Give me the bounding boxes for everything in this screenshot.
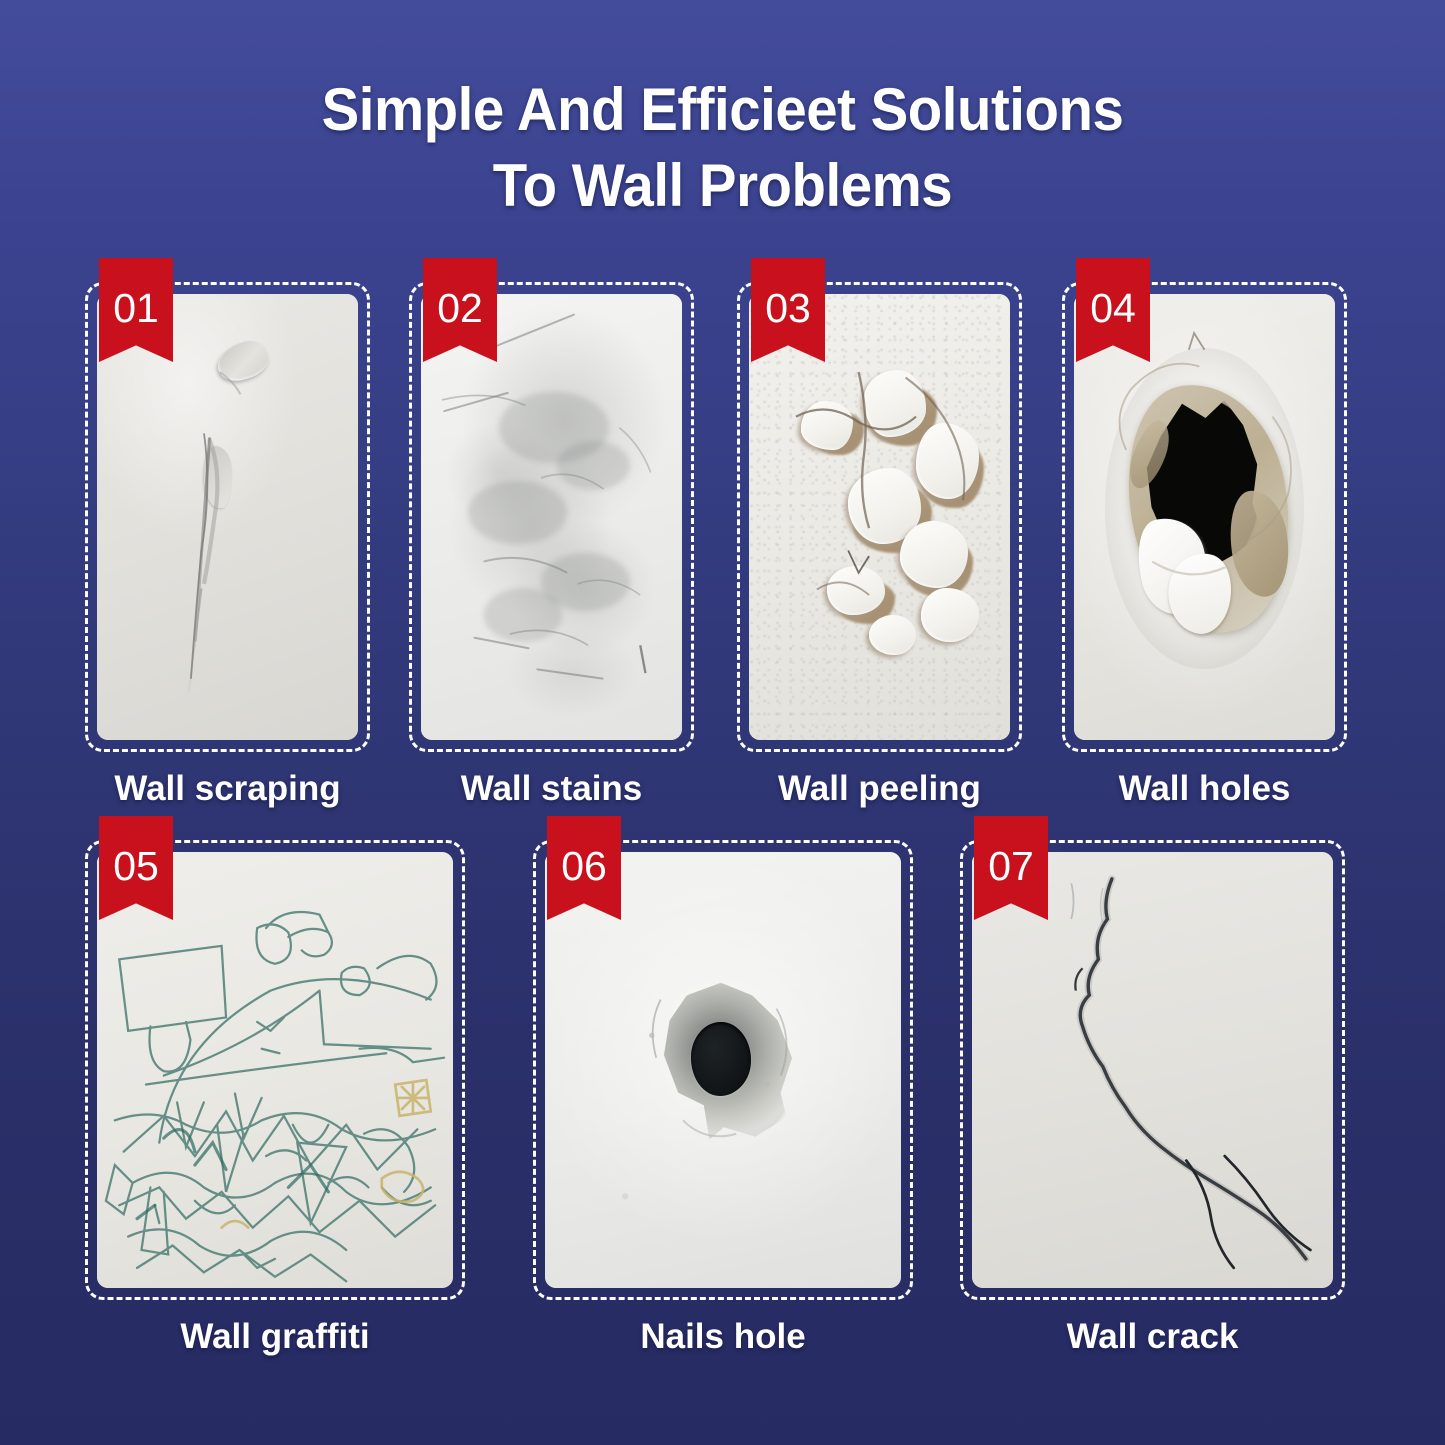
card-photo-wall-peeling (749, 294, 1010, 740)
badge-fold (173, 258, 185, 282)
card-photo-wall-scraping (97, 294, 358, 740)
badge-fold (825, 258, 837, 282)
badge-fold (497, 258, 509, 282)
problem-card-02[interactable]: 02 (409, 282, 694, 752)
badge-number: 01 (113, 288, 159, 329)
card-frame (85, 282, 370, 752)
badge-number: 03 (765, 288, 811, 329)
badge-number: 04 (1090, 288, 1136, 329)
card-caption-02: Wall stains (409, 768, 694, 810)
problem-card-03[interactable]: 03 (737, 282, 1022, 752)
card-photo-wall-stains (421, 294, 682, 740)
card-row-2: 05 Wall graffiti (0, 832, 1445, 1392)
card-photo-wall-graffiti (97, 852, 453, 1288)
card-photo-wall-crack (972, 852, 1333, 1288)
title-line-2: To Wall Problems (43, 148, 1401, 224)
badge-number: 02 (437, 288, 483, 329)
card-row-1: 01 Wall scraping (0, 262, 1445, 832)
problem-card-05[interactable]: 05 (85, 840, 465, 1300)
crack-lines (972, 852, 1333, 1288)
badge-fold (1150, 258, 1162, 282)
nail-hole-detail (545, 852, 901, 1288)
badge-number: 07 (988, 846, 1034, 887)
problem-card-grid: 01 Wall scraping (0, 262, 1445, 1392)
problem-card-01[interactable]: 01 (85, 282, 370, 752)
card-frame (737, 282, 1022, 752)
problem-card-04[interactable]: 04 (1062, 282, 1347, 752)
scrape-detail-lines (97, 294, 358, 740)
problem-card-06[interactable]: 06 (533, 840, 913, 1300)
card-photo-nails-hole (545, 852, 901, 1288)
page-title: Simple And Efficieet Solutions To Wall P… (0, 72, 1445, 224)
badge-number: 06 (561, 846, 607, 887)
crayon-scribbles (97, 852, 453, 1288)
card-caption-01: Wall scraping (85, 768, 370, 810)
card-frame (960, 840, 1345, 1300)
card-caption-05: Wall graffiti (85, 1316, 465, 1358)
card-caption-07: Wall crack (960, 1316, 1345, 1358)
hole-edge-lines (1074, 294, 1335, 740)
peel-crack-lines (749, 294, 1010, 740)
card-photo-wall-holes (1074, 294, 1335, 740)
card-caption-03: Wall peeling (737, 768, 1022, 810)
stain-detail-lines (421, 294, 682, 740)
badge-number: 05 (113, 846, 159, 887)
card-frame (533, 840, 913, 1300)
card-frame (409, 282, 694, 752)
title-line-1: Simple And Efficieet Solutions (43, 72, 1401, 148)
card-frame (1062, 282, 1347, 752)
problem-card-07[interactable]: 07 (960, 840, 1345, 1300)
card-caption-04: Wall holes (1062, 768, 1347, 810)
card-frame (85, 840, 465, 1300)
card-caption-06: Nails hole (533, 1316, 913, 1358)
